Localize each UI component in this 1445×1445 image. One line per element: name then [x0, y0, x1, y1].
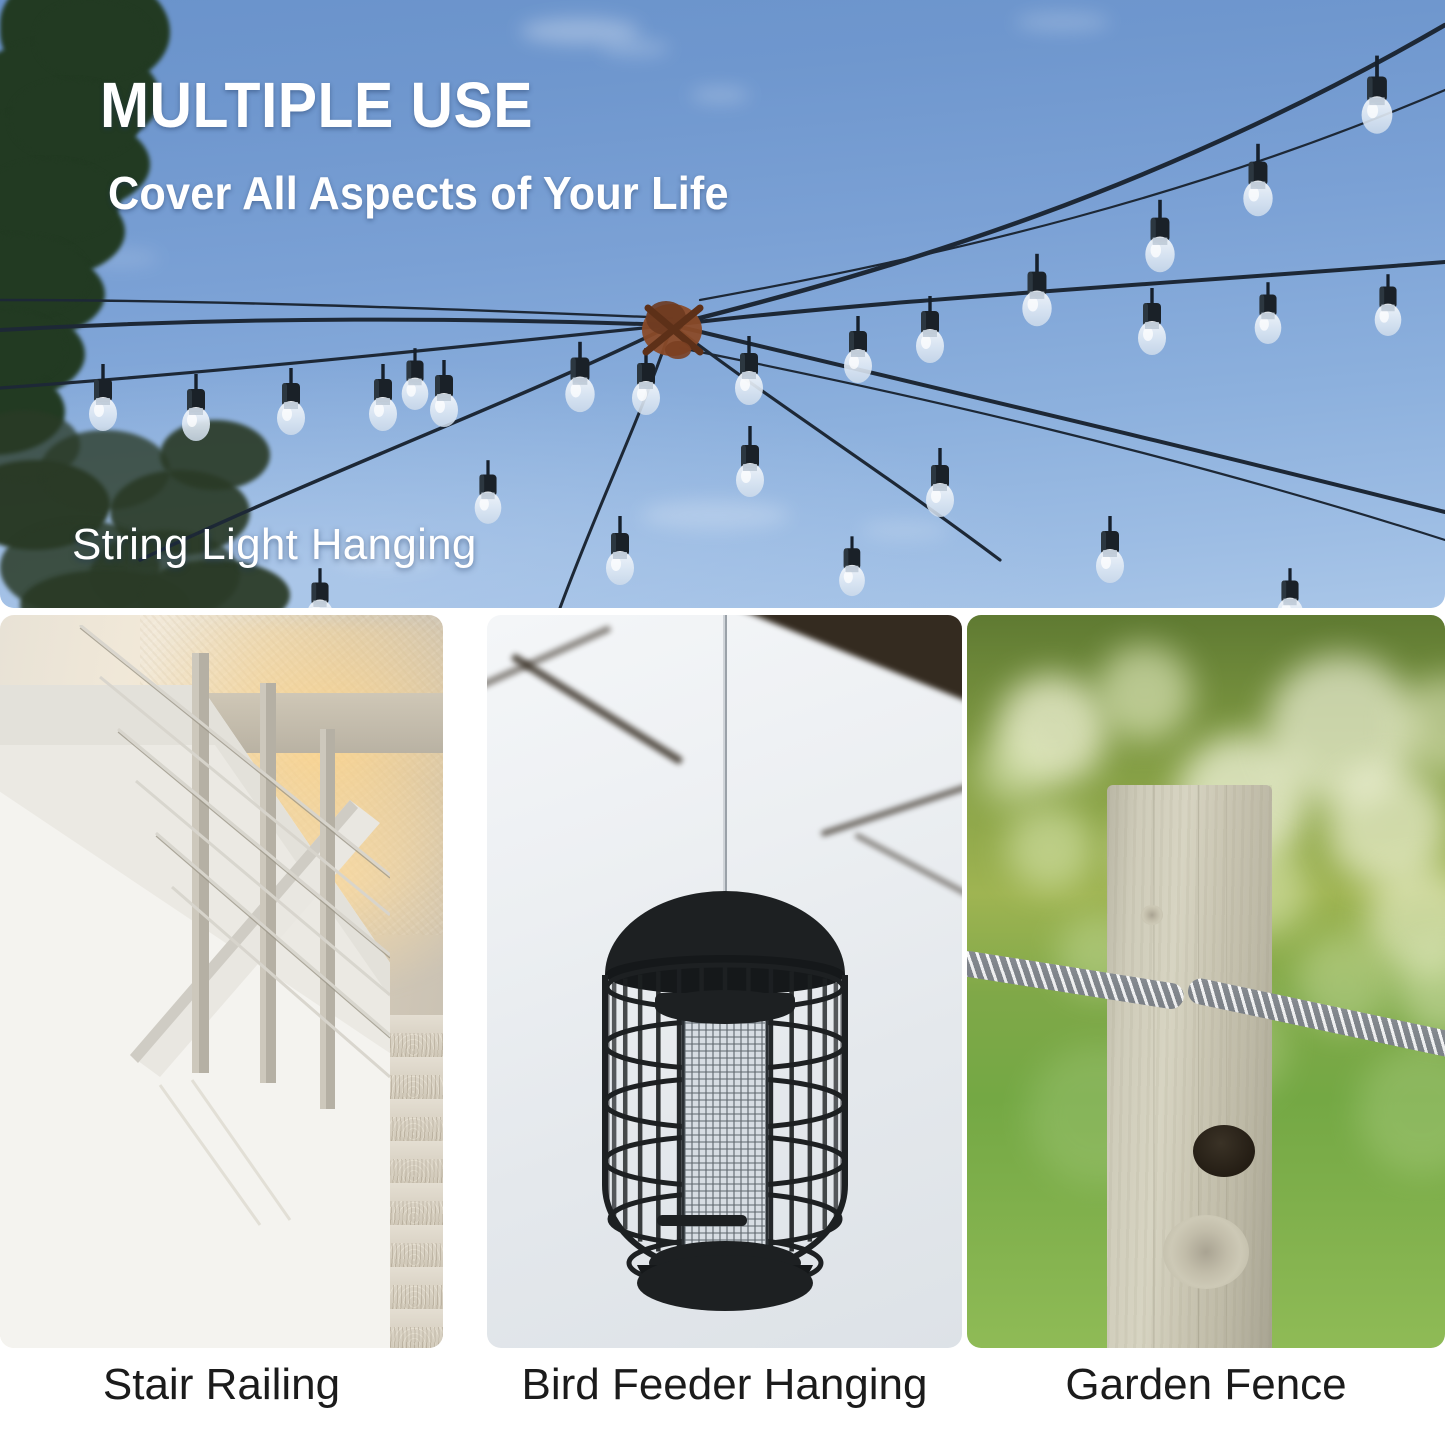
hero-caption: String Light Hanging: [72, 520, 477, 570]
string-light-bulb: [1145, 200, 1174, 272]
caption-garden-fence: Garden Fence: [967, 1360, 1445, 1410]
string-light-bulb: [844, 316, 872, 383]
string-light-bulb: [632, 348, 660, 415]
panel-bird-feeder: [487, 615, 962, 1348]
drilled-cable-hole: [1193, 1125, 1255, 1177]
string-light-bulb: [1277, 568, 1304, 608]
string-light-bulb: [1243, 144, 1272, 216]
string-light-bulb: [916, 296, 944, 363]
bokeh-circle: [1007, 805, 1092, 890]
wooden-fence-post: [1107, 785, 1272, 1348]
string-light-bulb: [89, 364, 117, 431]
string-light-bulb: [839, 536, 865, 596]
string-light-bulb: [402, 348, 429, 410]
caption-bird-feeder-hanging: Bird Feeder Hanging: [487, 1360, 962, 1410]
string-light-bulb: [430, 360, 458, 427]
bokeh-circle: [1357, 1045, 1445, 1175]
string-light-bulb: [1096, 516, 1124, 583]
wood-knot: [1163, 1215, 1249, 1289]
string-light-bulb: [926, 448, 954, 517]
panel-captions: Stair Railing Bird Feeder Hanging Garden…: [0, 1352, 1445, 1445]
string-light-bulb: [1138, 288, 1166, 355]
bokeh-circle: [977, 735, 1047, 805]
panel-garden-fence: [967, 615, 1445, 1348]
string-light-bulb: [277, 368, 305, 435]
page-title: MULTIPLE USE: [100, 68, 533, 142]
string-light-bulb: [307, 568, 334, 608]
wood-knot: [1141, 905, 1163, 925]
caged-bird-feeder: [487, 615, 962, 1348]
string-light-bulb: [606, 516, 634, 585]
page-subtitle: Cover All Aspects of Your Life: [108, 166, 729, 220]
use-case-panel-grid: [0, 615, 1445, 1348]
string-light-bulb: [736, 426, 764, 497]
string-light-bulb: [182, 374, 210, 441]
string-light-bulb: [1375, 274, 1402, 336]
infographic-page: MULTIPLE USE Cover All Aspects of Your L…: [0, 0, 1445, 1445]
bokeh-circle: [1097, 645, 1192, 740]
caption-stair-railing: Stair Railing: [0, 1360, 443, 1410]
string-light-bulb: [369, 364, 397, 431]
panel-stair-railing: [0, 615, 443, 1348]
string-light-bulb: [565, 342, 594, 412]
string-light-bulb: [475, 460, 502, 524]
cable-junction-hub: [642, 301, 702, 359]
string-light-bulb: [1255, 282, 1282, 344]
railing-and-balustrade: [0, 625, 390, 1348]
hero-image-string-light: MULTIPLE USE Cover All Aspects of Your L…: [0, 0, 1445, 608]
